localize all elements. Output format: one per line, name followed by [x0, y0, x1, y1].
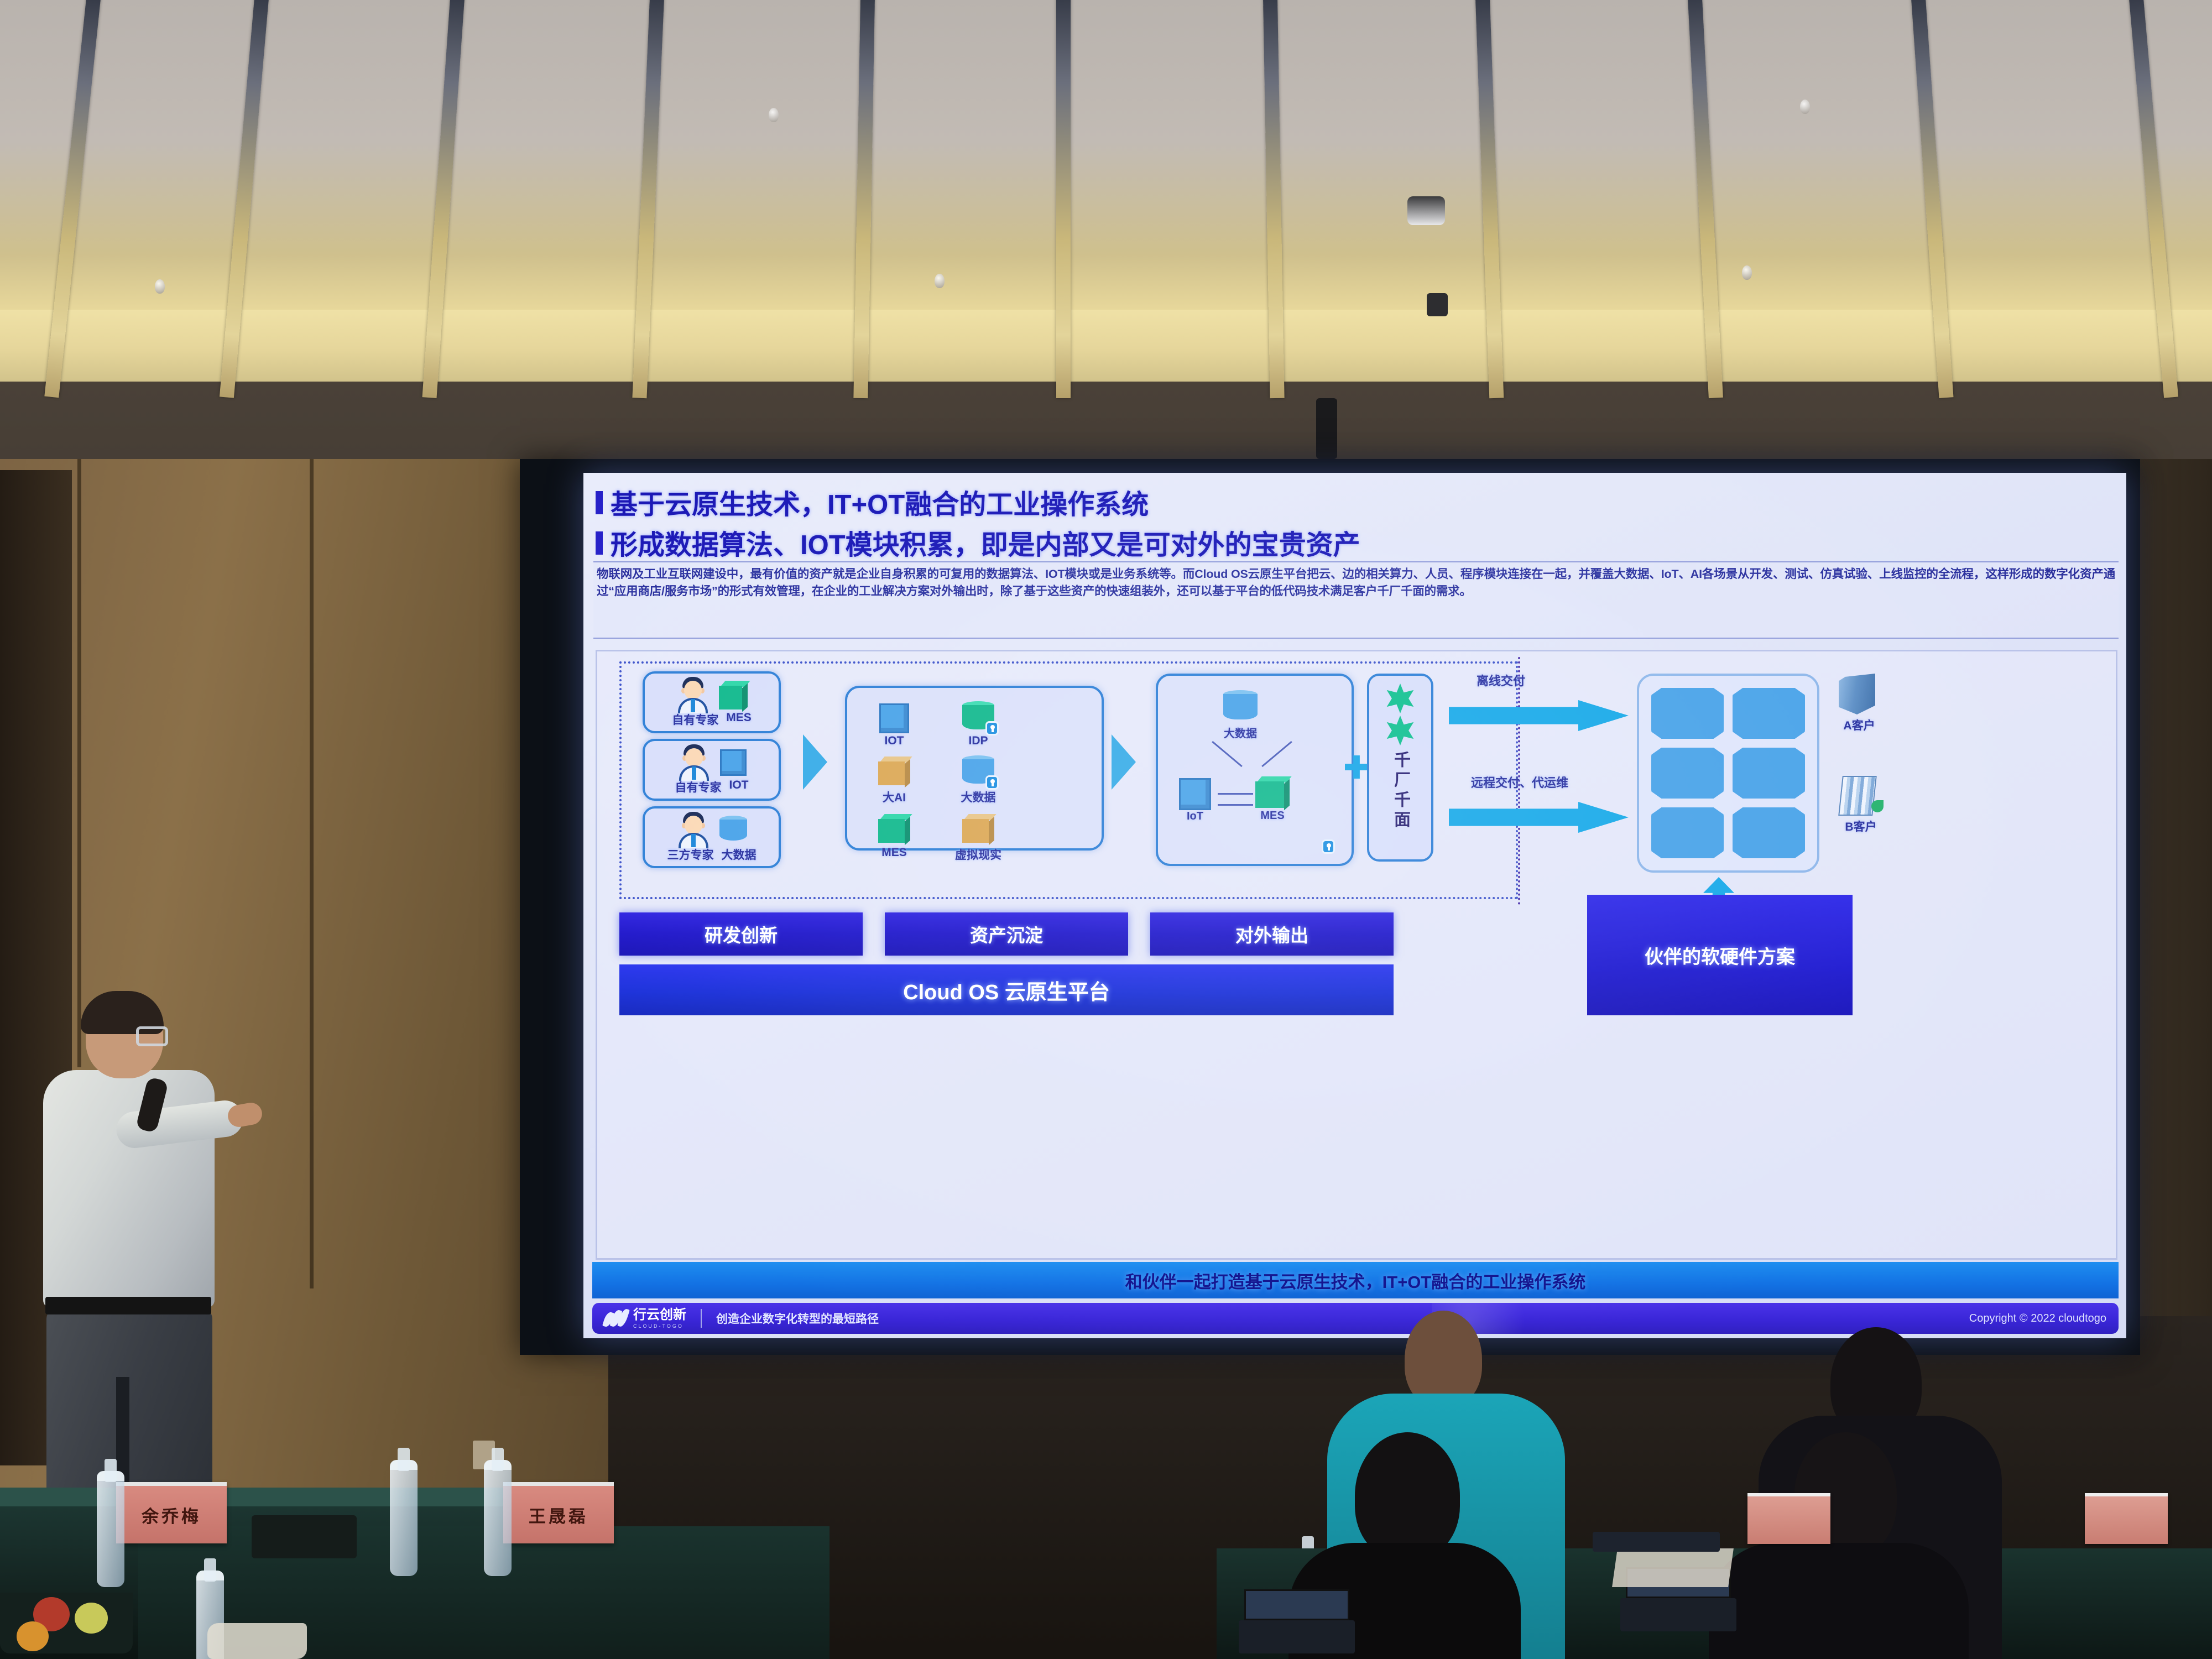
leaf-badge-icon [1871, 800, 1884, 812]
person-icon [676, 812, 711, 848]
expert-card-icons [645, 677, 779, 713]
laptop [1239, 1620, 1355, 1653]
title-line-1-row: 基于云原生技术，IT+OT融合的工业操作系统 [596, 483, 2116, 522]
solution-tile [1733, 748, 1805, 799]
footer-copyright: Copyright © 2022 cloudtogo [1969, 1312, 2106, 1325]
ceiling-sprinkler-icon [1800, 100, 1810, 114]
ceiling [0, 0, 2212, 354]
asset-item: 虚拟现实 [946, 811, 1011, 863]
subtitle-accent-bar [596, 531, 603, 555]
water-bottle [97, 1471, 124, 1587]
name-placard-small [2085, 1493, 2168, 1544]
footer-divider [701, 1309, 702, 1328]
title-line-2-row: 形成数据算法、IOT模块积累，即是内部又是可对外的宝贵资产 [596, 523, 2116, 562]
napkin [207, 1623, 307, 1659]
fruit-orange [17, 1621, 49, 1651]
solution-tile [1651, 748, 1724, 799]
output-node-label: 大数据 [1223, 724, 1258, 740]
asset-label: 大AI [862, 789, 927, 805]
slide-body-box: 物联网及工业互联网建设中，最有价值的资产就是企业自身积累的可复用的数据算法、IO… [593, 561, 2119, 639]
ceiling-sprinkler-icon [769, 108, 779, 122]
ceiling-sprinkler-icon [1742, 265, 1752, 280]
presenter-glasses-icon [136, 1026, 168, 1046]
cylinder-icon [719, 816, 747, 844]
brand-block: 行云创新 CLOUD-TOGO [633, 1308, 686, 1329]
wall-seam [310, 459, 314, 1288]
expert-card: 自有专家 IOT [643, 739, 781, 801]
output-node: MES [1255, 776, 1290, 822]
asset-item: 大AI [862, 753, 927, 805]
asset-label: IDP [946, 734, 1011, 748]
asset-label: 大数据 [946, 789, 1011, 805]
person-icon [677, 744, 711, 781]
stage-bar-asset: 资产沉淀 [885, 912, 1128, 956]
qianchang-qianmian-label: 千厂千面 [1388, 751, 1412, 831]
audience-member-head [1405, 1311, 1482, 1407]
customer-a: A客户 [1839, 674, 1880, 733]
fruit-pear [75, 1603, 108, 1634]
connector-arrow [1212, 741, 1243, 767]
ceiling-sprinkler-icon [935, 274, 945, 288]
ceiling-strip [1056, 0, 1071, 398]
presenter-belt [45, 1297, 211, 1314]
square-icon [1179, 778, 1211, 810]
slide-title-line2: 形成数据算法、IOT模块积累，即是内部又是可对外的宝贵资产 [611, 523, 1360, 562]
water-bottle [484, 1460, 512, 1576]
name-placard: 王晟磊 [503, 1482, 614, 1543]
asset-item: IDP [946, 699, 1011, 748]
audience-member-body [1709, 1543, 1969, 1659]
audience-member-head [1355, 1432, 1460, 1559]
laptop [1620, 1598, 1736, 1631]
square-icon [879, 703, 909, 733]
expert-card-labels: 自有专家 IOT [645, 779, 779, 795]
connector-arrow [1218, 793, 1253, 795]
ceiling-speaker-icon [1407, 196, 1445, 225]
solution-tile [1733, 688, 1805, 739]
slide-title-line1: 基于云原生技术，IT+OT融合的工业操作系统 [611, 483, 1149, 522]
wall-seam [77, 459, 81, 1067]
stage-bar-rd: 研发创新 [619, 912, 863, 956]
lock-icon [985, 775, 999, 790]
water-bottle [390, 1460, 418, 1576]
ceiling-sprinkler-icon [155, 279, 165, 294]
books-icon [1838, 776, 1877, 816]
books-icon-wrap [1840, 776, 1881, 816]
expert-card-icons [645, 744, 779, 781]
partner-solution-box: 伙伴的软硬件方案 [1587, 895, 1853, 1015]
asset-grid: IOT IDP [862, 699, 1091, 863]
slide-header: 基于云原生技术，IT+OT融合的工业操作系统 形成数据算法、IOT模块积累，即是… [596, 483, 2116, 564]
presenter [33, 995, 232, 1548]
bottom-summary-band: 和伙伴一起打造基于云原生技术，IT+OT融合的工业操作系统 [592, 1262, 2119, 1298]
expert-column: 自有专家 MES 自有专家 [643, 671, 781, 874]
brand-latin: CLOUD-TOGO [633, 1323, 686, 1329]
expert-asset-label: MES [726, 711, 752, 728]
connector-arrow [1261, 741, 1292, 767]
projector-mount [1316, 398, 1337, 459]
asset-item: IOT [862, 699, 927, 748]
tablet-device [1593, 1532, 1720, 1552]
ceiling-sensor-icon [1427, 293, 1448, 316]
cube-icon [878, 814, 910, 845]
asset-label: IOT [862, 734, 927, 748]
footer-tagline: 创造企业数字化转型的最短路径 [716, 1310, 879, 1327]
output-composition-box: 大数据 IoT MES [1156, 674, 1354, 866]
expert-card-labels: 三方专家 大数据 [645, 846, 779, 863]
delivery-label-remote: 远程交付、代运维 [1471, 773, 1568, 791]
stage-bar-output: 对外输出 [1150, 912, 1394, 956]
output-node-label: IoT [1179, 810, 1211, 823]
expert-card-labels: 自有专家 MES [645, 711, 779, 728]
delivery-label-offline: 离线交付 [1477, 671, 1525, 689]
cylinder-icon [962, 755, 994, 787]
lock-icon [985, 721, 999, 735]
output-node-label: MES [1255, 810, 1290, 822]
asset-item: MES [862, 811, 927, 863]
name-placard: 余乔梅 [116, 1482, 227, 1543]
expert-asset-label: IOT [729, 779, 749, 795]
expert-card: 自有专家 MES [643, 671, 781, 733]
asset-label: MES [862, 846, 927, 859]
expert-asset-label: 大数据 [722, 846, 757, 863]
name-placard-small [1747, 1493, 1830, 1544]
customer-a-label: A客户 [1839, 717, 1880, 733]
photo-scene: 基于云原生技术，IT+OT融合的工业操作系统 形成数据算法、IOT模块积累，即是… [0, 0, 2212, 1659]
customer-b: B客户 [1840, 776, 1881, 834]
connector-arrow [1218, 804, 1253, 806]
expert-role-label: 自有专家 [675, 779, 722, 795]
slide-body-text: 物联网及工业互联网建设中，最有价值的资产就是企业自身积累的可复用的数据算法、IO… [597, 566, 2115, 600]
platform-bar: Cloud OS 云原生平台 [619, 964, 1394, 1015]
expert-card-icons [645, 812, 779, 848]
cube-icon [719, 681, 748, 709]
head-table-top [0, 1488, 553, 1506]
cylinder-icon [1223, 690, 1258, 724]
solution-tile [1651, 807, 1724, 858]
cube-icon [878, 757, 910, 787]
qianchang-qianmian-box: 千厂千面 [1367, 674, 1433, 862]
asset-label: 虚拟现实 [946, 846, 1011, 863]
output-node: 大数据 [1223, 690, 1258, 740]
cube-icon [1255, 776, 1290, 810]
solution-tile [1651, 688, 1724, 739]
lock-icon [1322, 839, 1335, 854]
title-accent-bar [596, 491, 603, 514]
cylinder-icon [962, 701, 994, 733]
tea-tray [252, 1515, 357, 1558]
square-icon [720, 749, 747, 776]
star-icon [1385, 716, 1415, 745]
brand-name: 行云创新 [633, 1308, 686, 1322]
customer-solution-grid [1637, 674, 1819, 873]
person-icon [676, 677, 710, 713]
paper-sheet [1612, 1548, 1734, 1587]
star-icon [1385, 684, 1415, 713]
cube-icon [962, 814, 994, 845]
slide-diagram: 自有专家 MES 自有专家 [596, 650, 2117, 1260]
office-building-icon [1839, 674, 1875, 714]
output-nodes: 大数据 IoT MES [1158, 676, 1352, 864]
cloudtogo-logo-icon [604, 1307, 629, 1329]
presentation-slide: 基于云原生技术，IT+OT融合的工业操作系统 形成数据算法、IOT模块积累，即是… [583, 473, 2126, 1338]
output-node: IoT [1179, 778, 1211, 823]
solution-tile [1733, 807, 1805, 858]
expert-card: 三方专家 大数据 [643, 806, 781, 868]
customer-b-label: B客户 [1840, 818, 1881, 834]
expert-role-label: 三方专家 [667, 846, 714, 863]
asset-pool-box: IOT IDP [845, 686, 1104, 851]
projection-screen: 基于云原生技术，IT+OT融合的工业操作系统 形成数据算法、IOT模块积累，即是… [583, 473, 2126, 1338]
asset-item: 大数据 [946, 753, 1011, 805]
expert-role-label: 自有专家 [672, 711, 718, 728]
